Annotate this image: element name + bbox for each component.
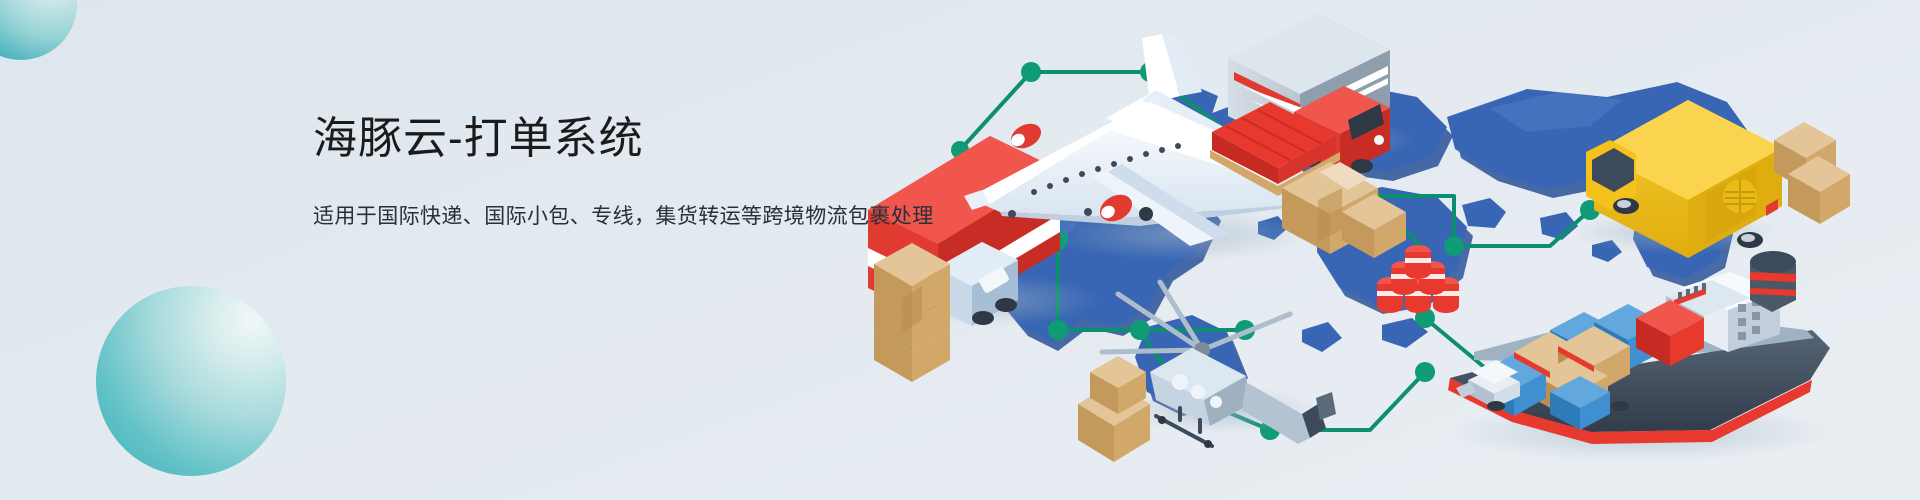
page-subtitle: 适用于国际快递、国际小包、专线，集货转运等跨境物流包裹处理 bbox=[313, 170, 934, 232]
teal-gradient-circle-top-left bbox=[0, 0, 77, 60]
hero-banner: 海豚云-打单系统 适用于国际快递、国际小包、专线，集货转运等跨境物流包裹处理 bbox=[0, 0, 1920, 500]
teal-gradient-circle-bottom-left bbox=[96, 286, 286, 476]
global-logistics-illustration bbox=[850, 0, 1920, 500]
cardboard-boxes-right bbox=[1774, 122, 1850, 224]
cardboard-boxes-bottom bbox=[1078, 356, 1150, 462]
cargo-ship bbox=[1448, 251, 1830, 462]
page-title: 海豚云-打单系统 bbox=[313, 108, 934, 170]
hero-text-block: 海豚云-打单系统 适用于国际快递、国际小包、专线，集货转运等跨境物流包裹处理 bbox=[313, 108, 934, 232]
cardboard-boxes-stack-left bbox=[874, 243, 950, 382]
